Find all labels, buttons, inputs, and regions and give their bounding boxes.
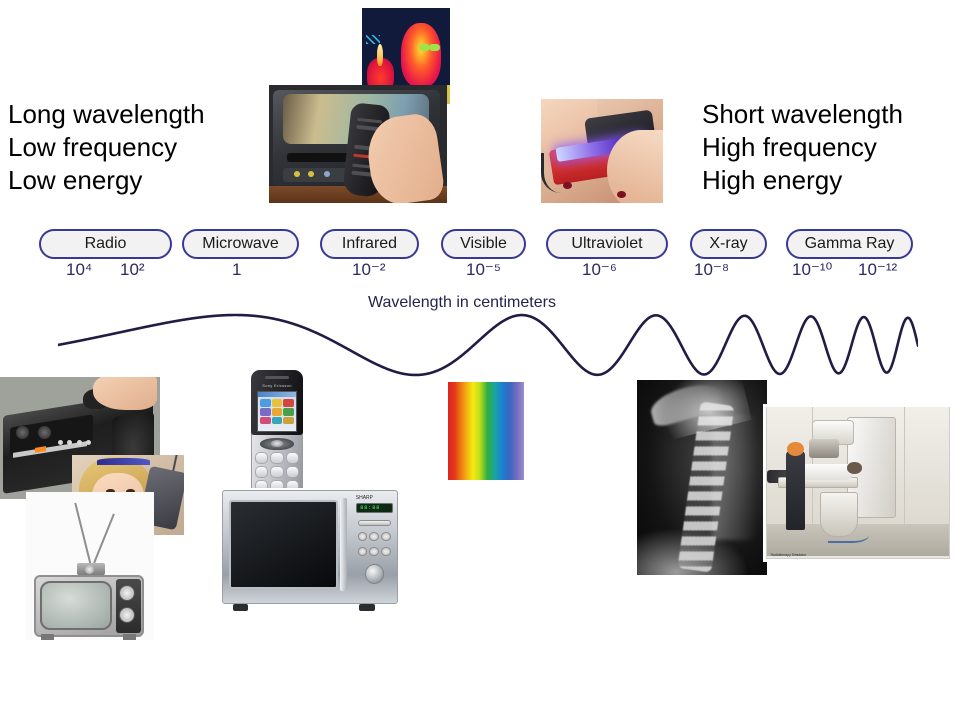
girl-headband <box>97 458 151 465</box>
caption-line-low-frequency: Low frequency <box>8 131 205 164</box>
phone-earpiece <box>265 376 289 380</box>
short-wavelength-caption: Short wavelength High frequency High ene… <box>702 98 903 197</box>
uv-lamp-photo <box>541 99 663 203</box>
technician-body <box>786 451 805 530</box>
microwave-button <box>381 532 391 541</box>
exponent-radio-2: 10² <box>120 260 145 280</box>
long-wavelength-caption: Long wavelength Low frequency Low energy <box>8 98 205 197</box>
band-box-microwave[interactable]: Microwave <box>182 229 299 259</box>
boombox-hand <box>93 377 157 410</box>
phone-menu-grid <box>260 399 294 424</box>
microwave-button <box>369 532 379 541</box>
exponent-visible: 10⁻⁵ <box>466 260 501 280</box>
patient-body <box>797 464 854 480</box>
tv-antenna-knob <box>85 565 94 574</box>
microwave-foot-right <box>359 604 375 611</box>
microwave-button <box>369 547 379 556</box>
rainbow-gradient <box>448 382 524 480</box>
caption-line-long-wavelength: Long wavelength <box>8 98 205 131</box>
xray-shoulder <box>637 528 749 575</box>
remote-button-row-1 <box>357 117 382 123</box>
radiotherapy-photo: Radiotherapy Simulator <box>763 404 953 562</box>
tv-remote-photo <box>269 85 447 203</box>
microwave-handle <box>340 498 347 591</box>
microwave-button <box>358 547 368 556</box>
phone-icon-6 <box>283 408 294 416</box>
microwave-timer-dial <box>365 564 384 584</box>
microwave-button-row-2 <box>358 547 391 556</box>
exponent-infrared: 10⁻² <box>352 260 386 280</box>
exponent-radio-1: 10⁴ <box>66 260 92 280</box>
wall-seam-2 <box>904 407 905 527</box>
microwave-button <box>381 547 391 556</box>
phone-icon-5 <box>272 408 283 416</box>
tv-screen <box>40 581 112 630</box>
linac-treatment-head <box>809 439 839 458</box>
boombox-knob-1 <box>16 426 29 439</box>
phone-icon-9 <box>283 417 294 425</box>
caption-line-high-energy: High energy <box>702 164 903 197</box>
retro-television-photo <box>26 492 154 640</box>
electromagnetic-wave <box>58 300 918 390</box>
visible-spectrum-photo <box>448 382 524 480</box>
band-label-gamma-ray: Gamma Ray <box>805 235 895 253</box>
band-box-gamma-ray[interactable]: Gamma Ray <box>786 229 913 259</box>
gamma-photo-caption: Radiotherapy Simulator <box>771 553 806 557</box>
exponent-xray: 10⁻⁸ <box>694 260 729 280</box>
x-ray-photo <box>637 380 767 575</box>
phone-icon-1 <box>260 399 271 407</box>
thermal-flame <box>377 44 383 65</box>
tv-indicator-1 <box>294 171 300 177</box>
phone-key <box>270 452 283 464</box>
uv-fingernail-2 <box>617 191 626 198</box>
phone-key <box>255 466 268 478</box>
band-label-microwave: Microwave <box>202 235 278 253</box>
phone-icon-7 <box>260 417 271 425</box>
slide-canvas: Long wavelength Low frequency Low energy… <box>0 0 960 720</box>
phone-screen <box>257 391 298 432</box>
band-box-radio[interactable]: Radio <box>39 229 172 259</box>
band-box-xray[interactable]: X-ray <box>690 229 767 259</box>
exponent-gamma-2: 10⁻¹² <box>858 260 897 280</box>
phone-key <box>286 466 299 478</box>
phone-icon-2 <box>272 399 283 407</box>
band-label-visible: Visible <box>460 235 507 253</box>
microwave-button-row-1 <box>358 532 391 541</box>
caption-line-low-energy: Low energy <box>8 164 205 197</box>
exponent-gamma-1: 10⁻¹⁰ <box>792 260 832 280</box>
microwave-oven-photo: SHARP 88:88 <box>222 488 398 611</box>
tv-foot-right <box>123 634 136 640</box>
microwave-button <box>358 532 368 541</box>
microwave-foot-left <box>233 604 249 611</box>
floor-cable <box>828 524 870 543</box>
phone-key <box>255 452 268 464</box>
caption-line-high-frequency: High frequency <box>702 131 903 164</box>
microwave-door <box>229 500 338 589</box>
thermal-face <box>401 23 441 86</box>
phone-icon-3 <box>283 399 294 407</box>
band-label-ultraviolet: Ultraviolet <box>571 235 642 253</box>
microwave-power-slider <box>358 520 391 526</box>
phone-brand-label: Sony Ericsson <box>255 383 298 390</box>
band-label-radio: Radio <box>85 235 127 253</box>
exponent-ultraviolet: 10⁻⁶ <box>582 260 617 280</box>
phone-key <box>270 466 283 478</box>
exponent-microwave: 1 <box>232 260 241 280</box>
microwave-display: 88:88 <box>356 503 393 513</box>
thermal-cold-specks <box>366 35 380 45</box>
phone-icon-4 <box>260 408 271 416</box>
microwave-display-value: 88:88 <box>360 505 388 511</box>
phone-key <box>286 452 299 464</box>
tv-foot-left <box>41 634 54 640</box>
patient-head <box>847 462 862 473</box>
thermal-eye-right <box>429 44 440 51</box>
microwave-brand-label: SHARP <box>356 495 373 501</box>
caption-line-short-wavelength: Short wavelength <box>702 98 903 131</box>
band-box-visible[interactable]: Visible <box>441 229 526 259</box>
band-box-ultraviolet[interactable]: Ultraviolet <box>546 229 668 259</box>
band-box-infrared[interactable]: Infrared <box>320 229 419 259</box>
technician-head <box>787 442 804 456</box>
band-label-xray: X-ray <box>709 235 747 253</box>
phone-icon-8 <box>272 417 283 425</box>
phone-status-bar <box>258 392 297 397</box>
band-label-infrared: Infrared <box>342 235 397 253</box>
